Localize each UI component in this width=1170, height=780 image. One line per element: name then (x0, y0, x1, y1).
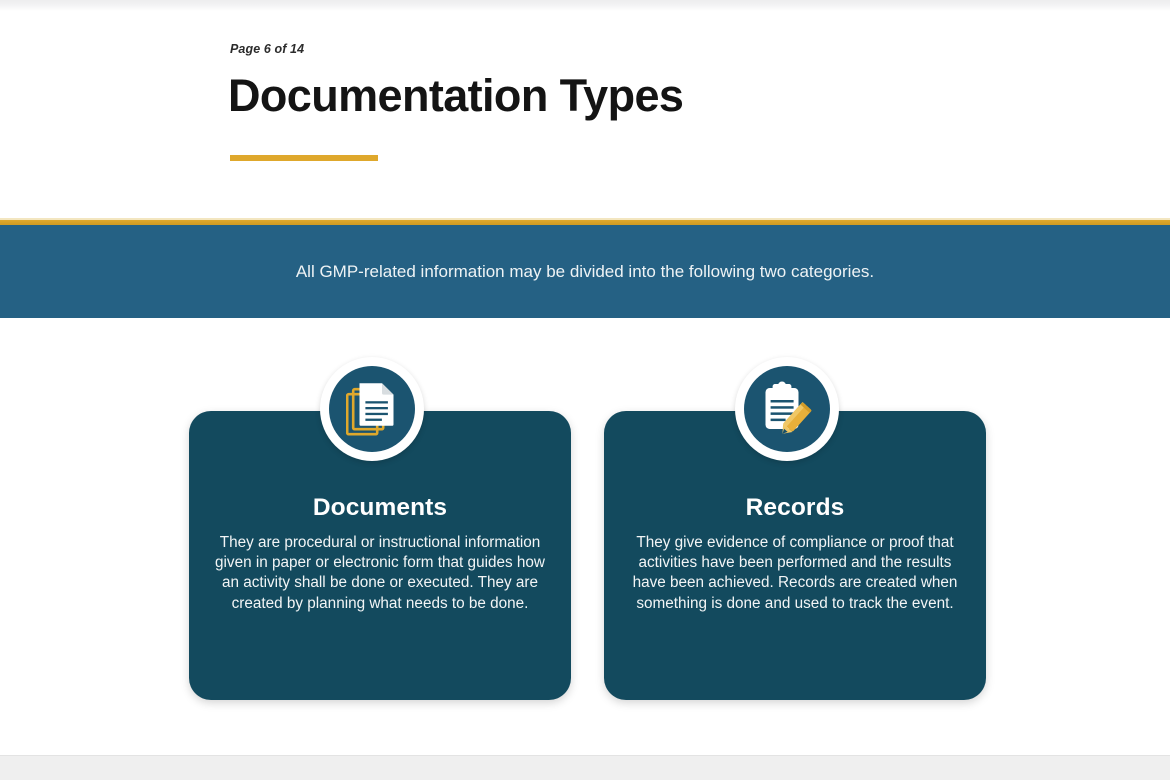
title-underline-rule (230, 155, 378, 161)
clipboard-pencil-icon (760, 381, 814, 437)
slide-header: Page 6 of 14 Documentation Types (0, 11, 1170, 218)
footer-band (0, 755, 1170, 780)
card-records-body: They give evidence of compliance or proo… (628, 533, 962, 614)
top-chrome-strip (0, 0, 1170, 11)
card-documents-body: They are procedural or instructional inf… (213, 533, 547, 614)
intro-banner: All GMP-related information may be divid… (0, 225, 1170, 318)
card-records-title: Records (604, 494, 986, 522)
gold-divider (0, 218, 1170, 225)
icon-circle-documents (329, 366, 415, 452)
page-title: Documentation Types (228, 70, 683, 122)
category-cards-area: Documents They are procedural or instruc… (0, 318, 1170, 755)
stacked-documents-icon (346, 381, 398, 437)
intro-banner-text: All GMP-related information may be divid… (256, 260, 914, 284)
icon-badge-documents (320, 357, 424, 461)
page-indicator: Page 6 of 14 (230, 42, 304, 56)
icon-badge-records (735, 357, 839, 461)
card-documents-title: Documents (189, 494, 571, 522)
icon-circle-records (744, 366, 830, 452)
